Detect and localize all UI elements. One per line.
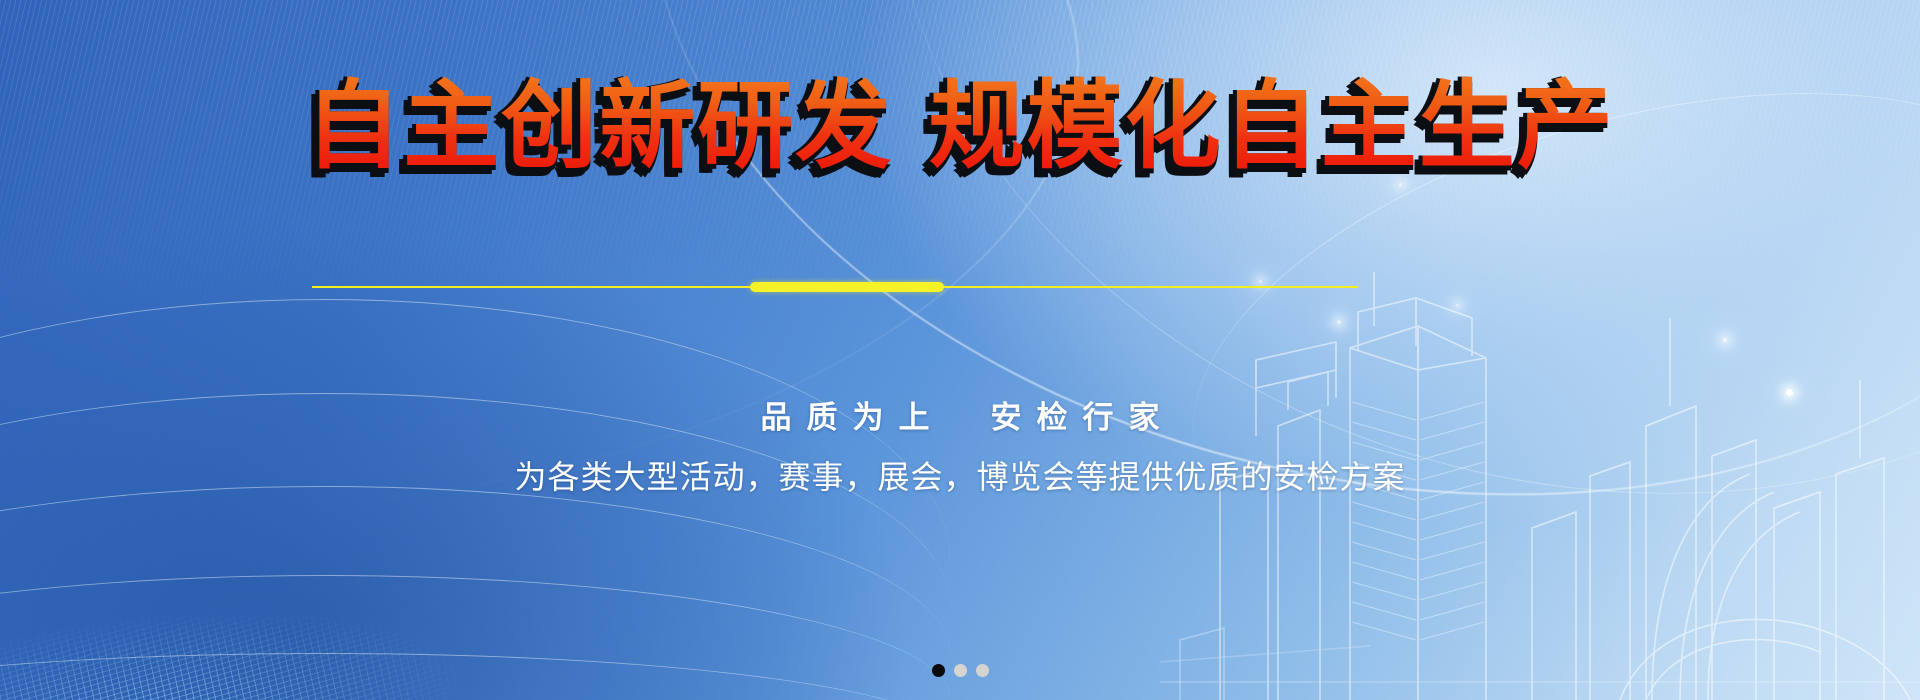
hero-banner: 自主创新研发 规模化自主生产 品质为上 安检行家 为各类大型活动，赛事，展会，博… [0,0,1920,700]
banner-content: 自主创新研发 规模化自主生产 品质为上 安检行家 为各类大型活动，赛事，展会，博… [0,0,1920,700]
banner-subtitle-secondary: 为各类大型活动，赛事，展会，博览会等提供优质的安检方案 [0,452,1920,498]
banner-headline-text: 自主创新研发 规模化自主生产 [305,70,1614,182]
divider-accent-bar [750,282,944,292]
carousel-indicators[interactable] [0,664,1920,677]
carousel-dot-2[interactable] [954,664,967,677]
carousel-dot-3[interactable] [976,664,989,677]
banner-headline: 自主创新研发 规模化自主生产 [0,78,1920,174]
banner-subtitle-primary: 品质为上 安检行家 [0,392,1920,437]
carousel-dot-1[interactable] [932,664,945,677]
title-divider [0,281,1920,293]
